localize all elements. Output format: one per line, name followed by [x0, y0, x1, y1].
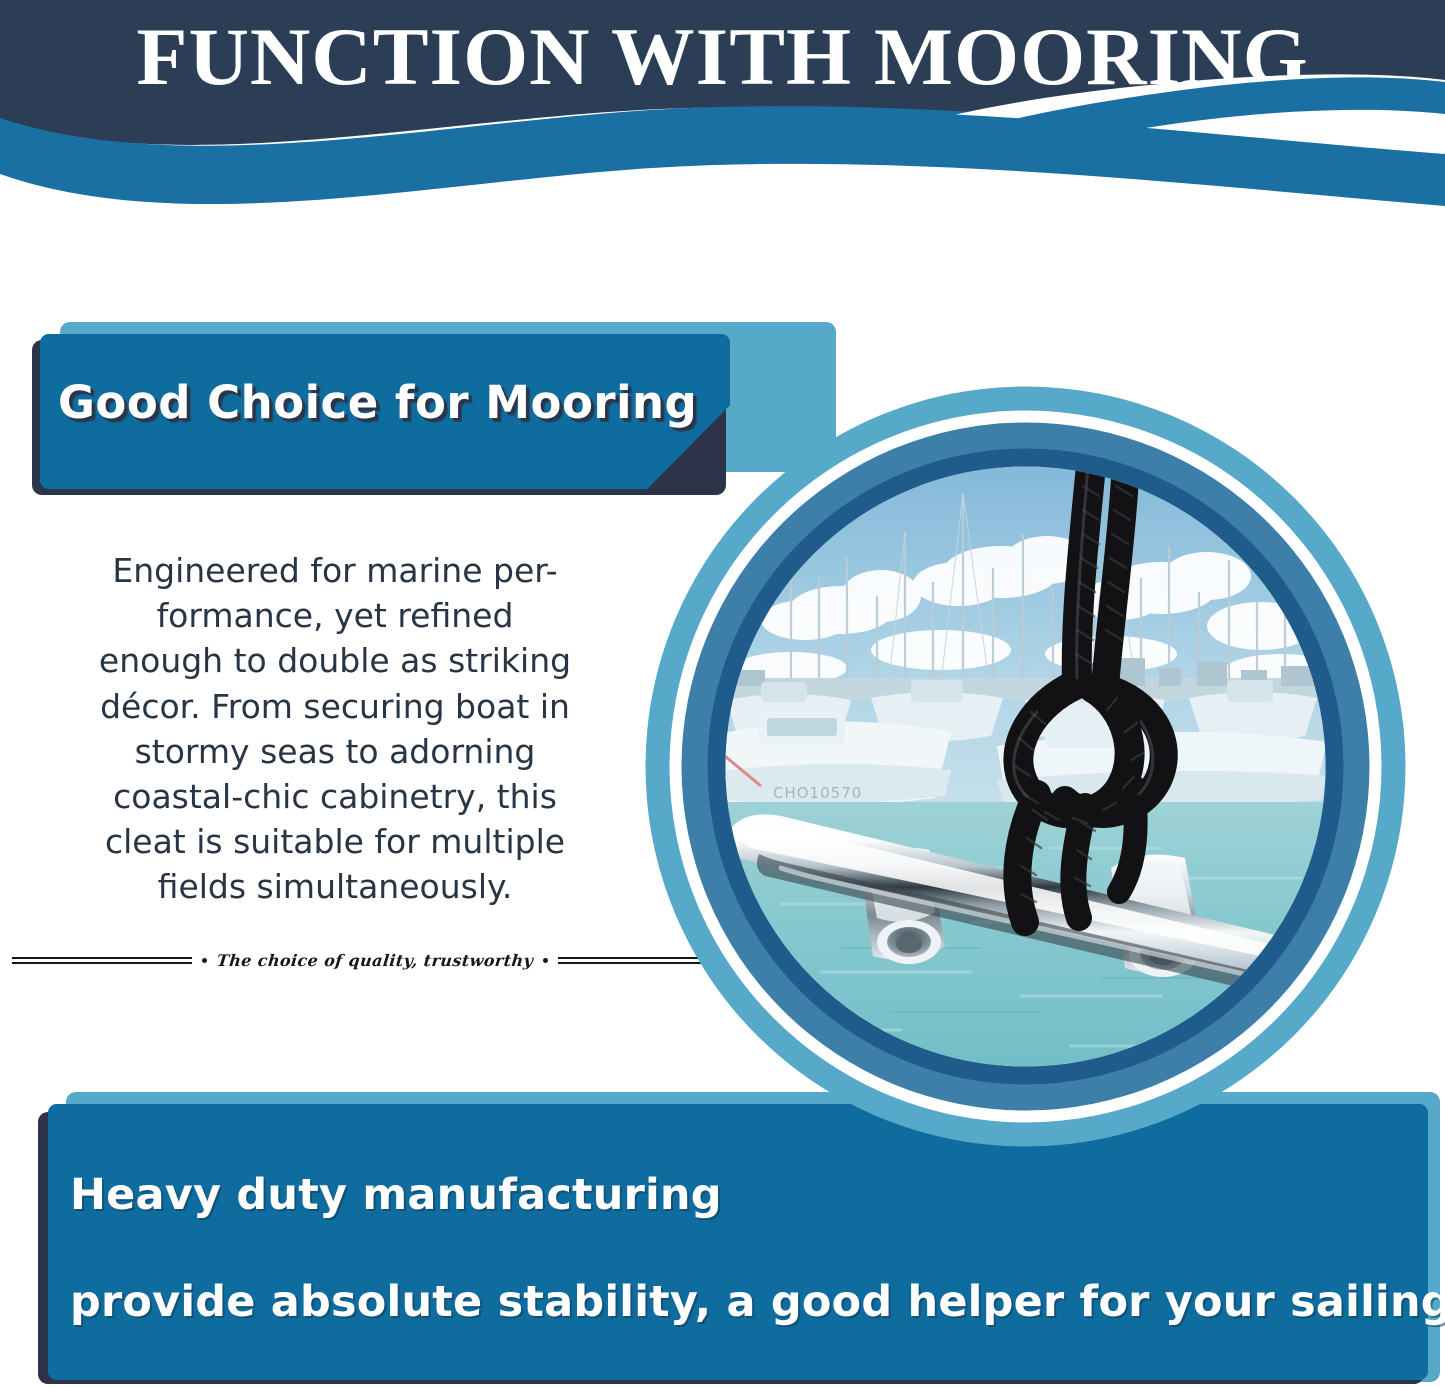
divider-rule-left	[12, 957, 192, 964]
bottom-banner-line1: Heavy duty manufacturing	[70, 1170, 722, 1220]
product-photo-circle: CHO10570	[641, 382, 1410, 1151]
body-copy-line: Engineered for marine per-	[45, 548, 625, 593]
product-infographic: FUNCTION WITH MOORING Good Choice for Mo…	[0, 0, 1445, 1387]
marina-cleat-illustration: CHO10570	[641, 382, 1410, 1151]
header-banner: FUNCTION WITH MOORING	[0, 0, 1445, 232]
page-title: FUNCTION WITH MOORING	[0, 16, 1445, 98]
decorative-divider: The choice of quality, trustworthy	[12, 938, 626, 982]
divider-motto: The choice of quality, trustworthy	[216, 951, 534, 970]
bottom-banner-line2: provide absolute stability, a good helpe…	[70, 1277, 1445, 1327]
body-copy-line: décor. From securing boat in	[45, 684, 625, 729]
body-copy-line: fields simultaneously.	[45, 864, 625, 909]
body-copy-line: coastal-chic cabinetry, this	[45, 774, 625, 819]
bullet-dot-icon	[543, 958, 548, 963]
body-copy-line: formance, yet refined	[45, 593, 625, 638]
body-copy-line: cleat is suitable for multiple	[45, 819, 625, 864]
svg-text:CHO10570: CHO10570	[773, 784, 862, 802]
body-copy: Engineered for marine per- formance, yet…	[45, 548, 625, 910]
body-copy-line: enough to double as striking	[45, 638, 625, 683]
body-copy-line: stormy seas to adorning	[45, 729, 625, 774]
bullet-dot-icon	[202, 958, 207, 963]
